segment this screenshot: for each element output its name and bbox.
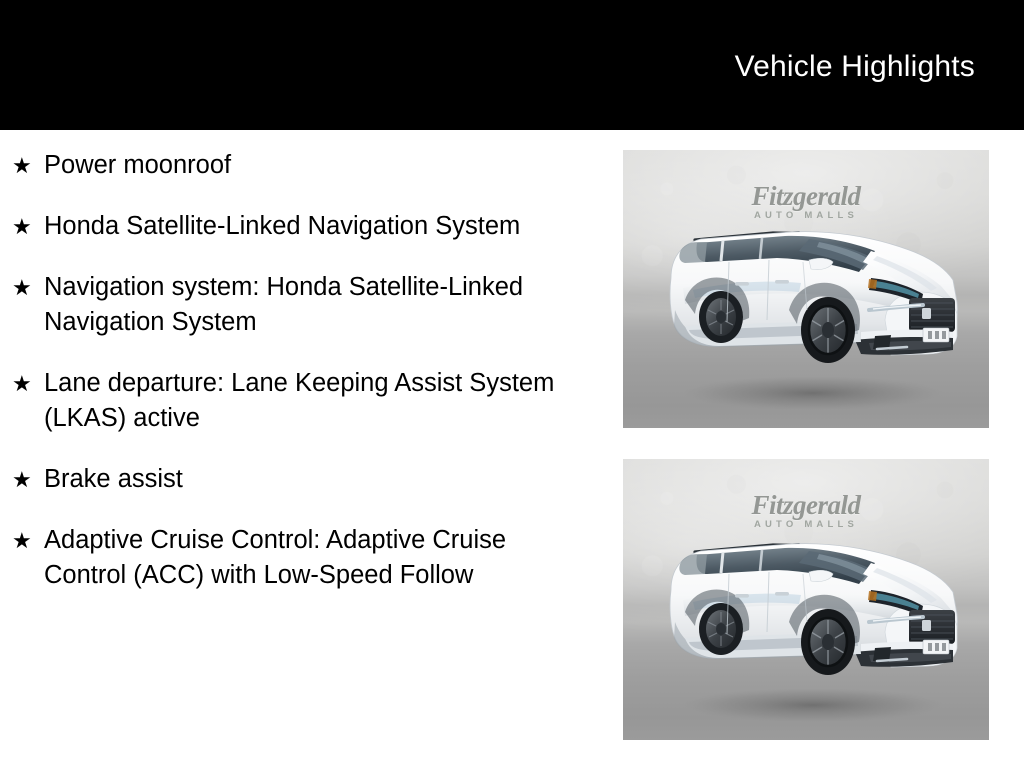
star-bullet-icon: ★ <box>12 366 32 401</box>
list-item: ★ Brake assist <box>0 462 560 497</box>
list-item-label: Honda Satellite-Linked Navigation System <box>44 209 560 244</box>
star-bullet-icon: ★ <box>12 209 32 244</box>
list-item: ★ Honda Satellite-Linked Navigation Syst… <box>0 209 560 244</box>
list-item-label: Lane departure: Lane Keeping Assist Syst… <box>44 366 560 436</box>
list-item-label: Power moonroof <box>44 148 560 183</box>
star-bullet-icon: ★ <box>12 270 32 305</box>
suv-vehicle-illustration <box>623 459 989 740</box>
list-item-label: Navigation system: Honda Satellite-Linke… <box>44 270 560 340</box>
star-bullet-icon: ★ <box>12 523 32 558</box>
suv-vehicle-illustration <box>623 150 989 428</box>
list-item: ★ Adaptive Cruise Control: Adaptive Crui… <box>0 523 560 593</box>
page-title: Vehicle Highlights <box>735 48 975 86</box>
slide-root: Vehicle Highlights ★ Power moonroof ★ Ho… <box>0 0 1024 768</box>
list-item: ★ Lane departure: Lane Keeping Assist Sy… <box>0 366 560 436</box>
header-band: Vehicle Highlights <box>0 0 1024 130</box>
list-item-label: Adaptive Cruise Control: Adaptive Cruise… <box>44 523 560 593</box>
list-item: ★ Power moonroof <box>0 148 560 183</box>
vehicle-photo-front-three-quarter-2[interactable]: Fitzgerald AUTO MALLS <box>623 459 989 740</box>
vehicle-highlights-list: ★ Power moonroof ★ Honda Satellite-Linke… <box>0 148 600 619</box>
list-item: ★ Navigation system: Honda Satellite-Lin… <box>0 270 560 340</box>
vehicle-photo-front-three-quarter-1[interactable]: Fitzgerald AUTO MALLS <box>623 150 989 428</box>
star-bullet-icon: ★ <box>12 148 32 183</box>
list-item-label: Brake assist <box>44 462 560 497</box>
star-bullet-icon: ★ <box>12 462 32 497</box>
